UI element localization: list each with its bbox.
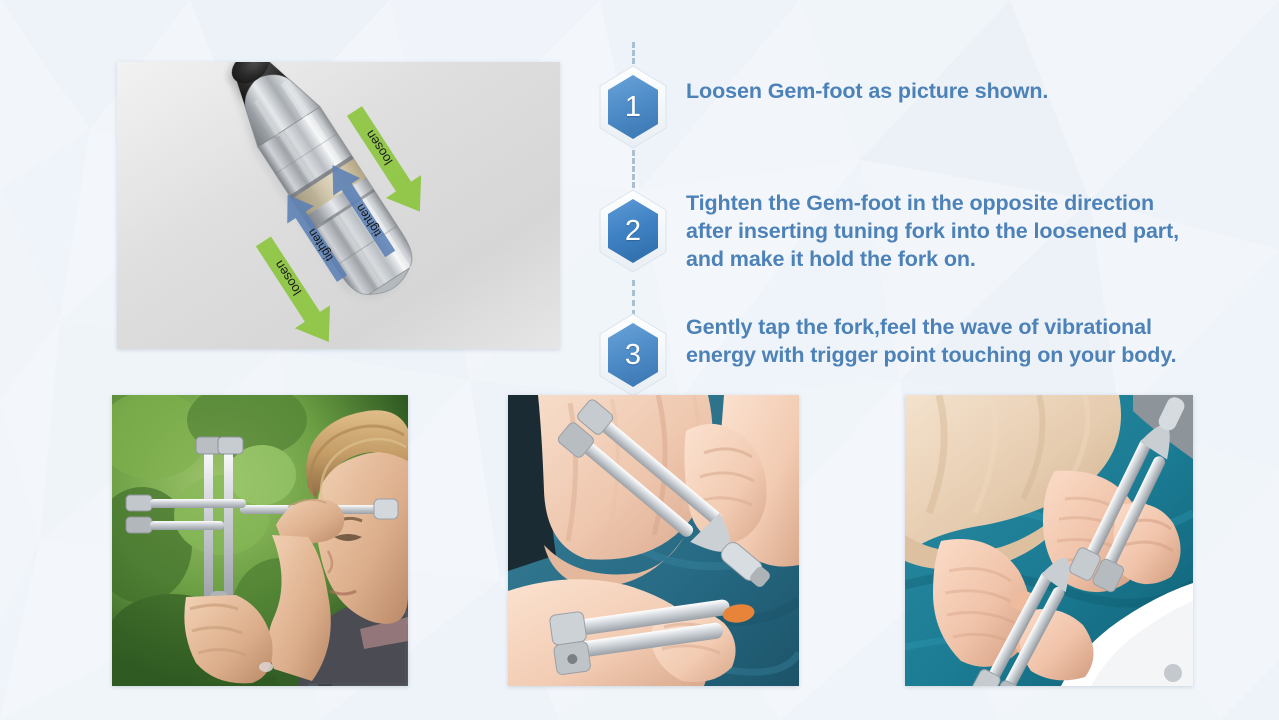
steps-list: 1 Loosen Gem-foot as picture shown. bbox=[596, 42, 1196, 372]
step-text-1: Loosen Gem-foot as picture shown. bbox=[686, 64, 1048, 106]
step-number-1: 1 bbox=[596, 64, 670, 150]
photo-foot-treatment-image bbox=[905, 395, 1193, 686]
connector-dash-top bbox=[632, 42, 635, 64]
connector-dash-2-3 bbox=[632, 280, 635, 316]
product-figure: loosen tighten tighten loosen bbox=[117, 62, 560, 349]
photo-woman-outdoors bbox=[112, 395, 408, 686]
product-illustration: loosen tighten tighten loosen bbox=[117, 62, 560, 349]
photo-foot-treatment bbox=[905, 395, 1193, 686]
step-item-3: 3 Gently tap the fork,feel the wave of v… bbox=[596, 312, 1192, 398]
step-badge-1: 1 bbox=[596, 64, 670, 150]
step-number-2: 2 bbox=[596, 188, 670, 274]
step-text-2: Tighten the Gem-foot in the opposite dir… bbox=[686, 188, 1192, 274]
step-text-3: Gently tap the fork,feel the wave of vib… bbox=[686, 312, 1192, 370]
step-badge-2: 2 bbox=[596, 188, 670, 274]
step-number-3: 3 bbox=[596, 312, 670, 398]
step-item-1: 1 Loosen Gem-foot as picture shown. bbox=[596, 64, 1048, 150]
photo-child-treatment bbox=[508, 395, 799, 686]
step-item-2: 2 Tighten the Gem-foot in the opposite d… bbox=[596, 188, 1192, 274]
infographic-page: loosen tighten tighten loosen bbox=[0, 0, 1279, 720]
connector-dash-1-2 bbox=[632, 150, 635, 188]
photo-child-treatment-image bbox=[508, 395, 799, 686]
step-badge-3: 3 bbox=[596, 312, 670, 398]
photo-woman-outdoors-image bbox=[112, 395, 408, 686]
